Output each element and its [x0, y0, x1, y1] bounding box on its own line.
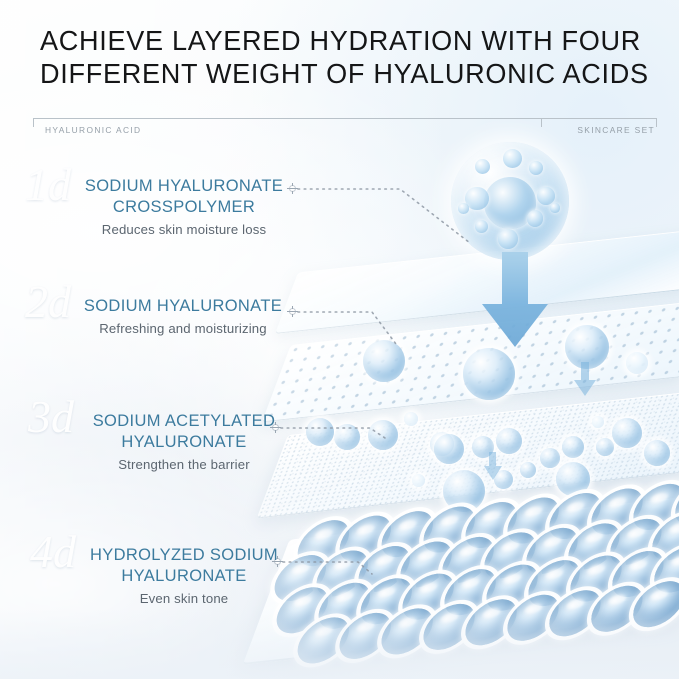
ingredient-item-3: 3d SODIUM ACETYLATED HYALURONATE Strengt…: [20, 411, 320, 473]
droplet-on-textured-layer: [612, 418, 642, 448]
droplet-on-perforated-layer: [463, 348, 515, 400]
category-bar-tick-middle: [541, 118, 542, 127]
page-title-line-2: DIFFERENT WEIGHT OF HYALURONIC ACIDS: [40, 57, 631, 90]
ingredient-item-4: 4d HYDROLYZED SODIUM HYALURONATE Even sk…: [20, 545, 320, 607]
macro-sphere-inner-bubble: [498, 229, 518, 249]
category-label-left: HYALURONIC ACID: [45, 125, 141, 135]
category-bar-tick-left: [33, 118, 34, 127]
ingredient-description-3: Strengthen the barrier: [48, 456, 320, 473]
ingredient-body-3: SODIUM ACETYLATED HYALURONATE Strengthen…: [20, 411, 320, 473]
ingredient-description-1: Reduces skin moisture loss: [48, 221, 320, 238]
ingredient-body-2: SODIUM HYALURONATE Refreshing and moistu…: [20, 296, 320, 337]
droplet-on-textured-layer: [520, 462, 536, 478]
droplet-on-textured-layer: [434, 434, 464, 464]
droplet-on-textured-layer: [562, 436, 584, 458]
droplet-on-perforated-layer: [363, 340, 405, 382]
ingredient-description-2: Refreshing and moisturizing: [46, 320, 320, 337]
ingredient-item-1: 1d SODIUM HYALURONATE CROSSPOLYMER Reduc…: [20, 176, 320, 238]
macro-sphere-inner-bubble: [529, 161, 543, 175]
droplet-on-textured-layer: [412, 474, 425, 487]
ingredient-body-1: SODIUM HYALURONATE CROSSPOLYMER Reduces …: [20, 176, 320, 238]
droplet-on-textured-layer: [644, 440, 670, 466]
droplet-on-textured-layer: [596, 438, 614, 456]
ingredient-description-4: Even skin tone: [48, 590, 320, 607]
hyaluronic-acid-macro-sphere: [451, 142, 569, 260]
droplet-on-perforated-layer: [626, 352, 648, 374]
macro-sphere-inner-bubble: [503, 149, 522, 168]
infographic-canvas: ACHIEVE LAYERED HYDRATION WITH FOUR DIFF…: [0, 0, 679, 679]
droplet-on-textured-layer: [540, 448, 560, 468]
page-title: ACHIEVE LAYERED HYDRATION WITH FOUR DIFF…: [40, 24, 640, 90]
category-bar-tick-right: [656, 118, 657, 127]
macro-sphere-inner-bubble: [458, 203, 469, 214]
macro-sphere-inner-bubble: [537, 187, 555, 205]
ingredient-title-3: SODIUM ACETYLATED HYALURONATE: [68, 411, 300, 453]
droplet-on-textured-layer: [592, 416, 604, 428]
category-bar-rule: [33, 118, 657, 119]
ingredient-item-2: 2d SODIUM HYALURONATE Refreshing and moi…: [20, 296, 320, 337]
droplet-on-textured-layer: [334, 424, 360, 450]
ingredient-title-2: SODIUM HYALURONATE: [46, 296, 320, 317]
macro-sphere-inner-bubble: [465, 187, 489, 211]
droplet-on-textured-layer: [496, 428, 522, 454]
droplet-on-textured-layer: [368, 420, 398, 450]
penetration-arrow-small: [483, 452, 503, 482]
penetration-arrow-small: [573, 362, 597, 398]
page-title-line-1: ACHIEVE LAYERED HYDRATION WITH FOUR: [40, 24, 631, 57]
category-bar: HYALURONIC ACID SKINCARE SET: [33, 118, 657, 140]
droplet-on-textured-layer: [404, 412, 418, 426]
ingredient-body-4: HYDROLYZED SODIUM HYALURONATE Even skin …: [20, 545, 320, 607]
macro-sphere-inner-bubble: [475, 159, 490, 174]
category-label-right: SKINCARE SET: [577, 125, 655, 135]
macro-sphere-inner-bubble: [527, 210, 544, 227]
ingredient-title-4: HYDROLYZED SODIUM HYALURONATE: [71, 545, 297, 587]
ingredient-title-1: SODIUM HYALURONATE CROSSPOLYMER: [64, 176, 304, 218]
macro-sphere-inner-bubble: [475, 220, 488, 233]
macro-sphere-inner-bubble: [550, 203, 559, 212]
penetration-arrow: [478, 252, 552, 350]
